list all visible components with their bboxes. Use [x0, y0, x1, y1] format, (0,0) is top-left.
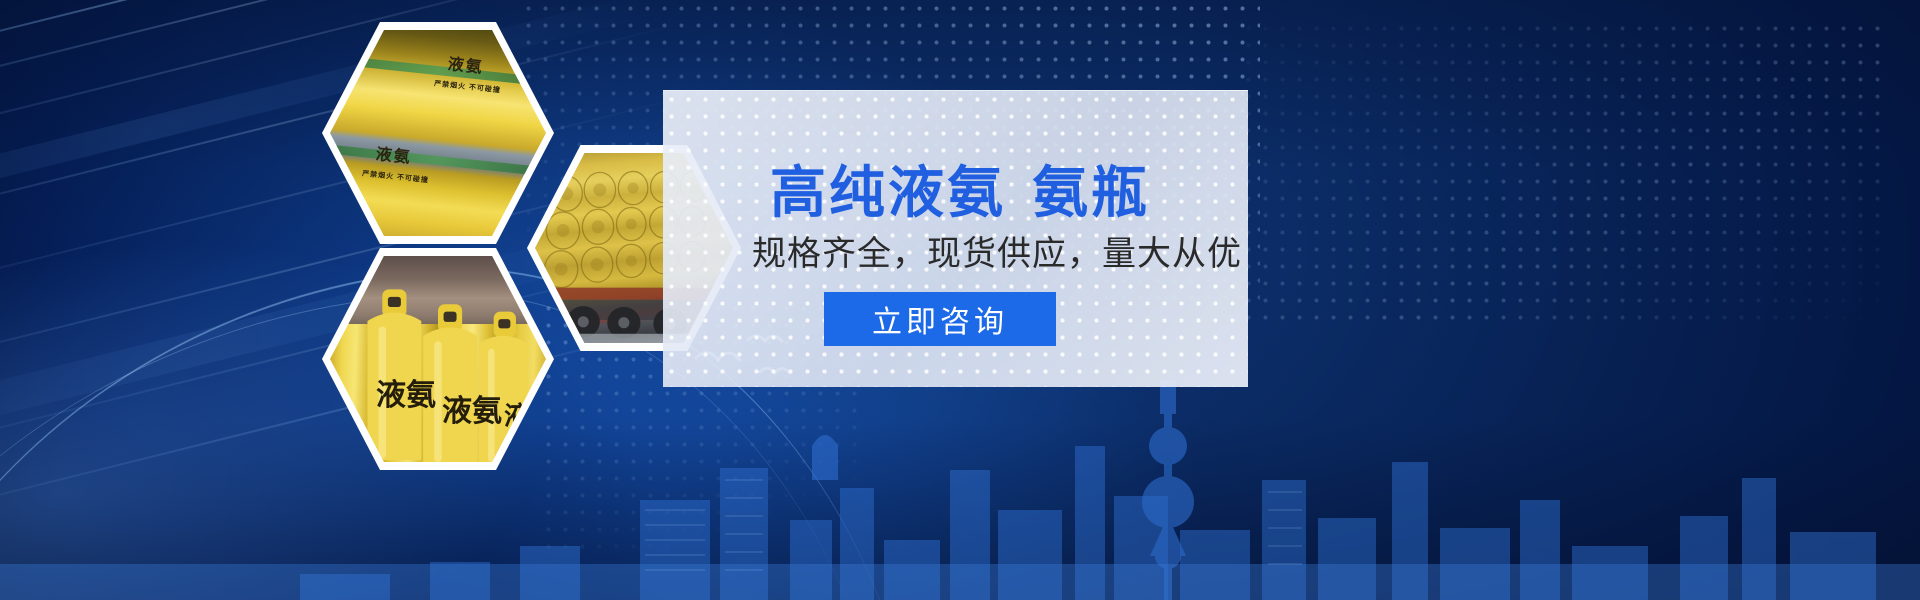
title-part-1: 高纯液氨 — [770, 161, 1006, 224]
cylinder-stencil-label: 液氨 — [447, 50, 485, 78]
subtitle: 规格齐全，现货供应，量大从优 — [752, 226, 1242, 275]
cylinder-label-1: 液氨 — [376, 370, 436, 414]
cylinder-valve-caps — [330, 256, 546, 462]
promo-banner: 液氨 严禁烟火 不可碰撞 液氨 严禁烟火 不可碰撞 — [0, 0, 1920, 600]
page-title: 高纯液氨氨瓶 — [770, 148, 1150, 229]
cylinder-label-2: 液氨 — [442, 386, 502, 430]
city-skyline-silhouette — [0, 350, 1920, 600]
cylinder-stencil-label-2: 液氨 — [375, 140, 413, 168]
title-part-2: 氨瓶 — [1032, 161, 1150, 224]
dot-matrix-pattern-right — [1240, 20, 1880, 320]
photo-liquid-ammonia-tanks — [330, 30, 546, 236]
consult-now-button[interactable]: 立即咨询 — [824, 292, 1056, 346]
